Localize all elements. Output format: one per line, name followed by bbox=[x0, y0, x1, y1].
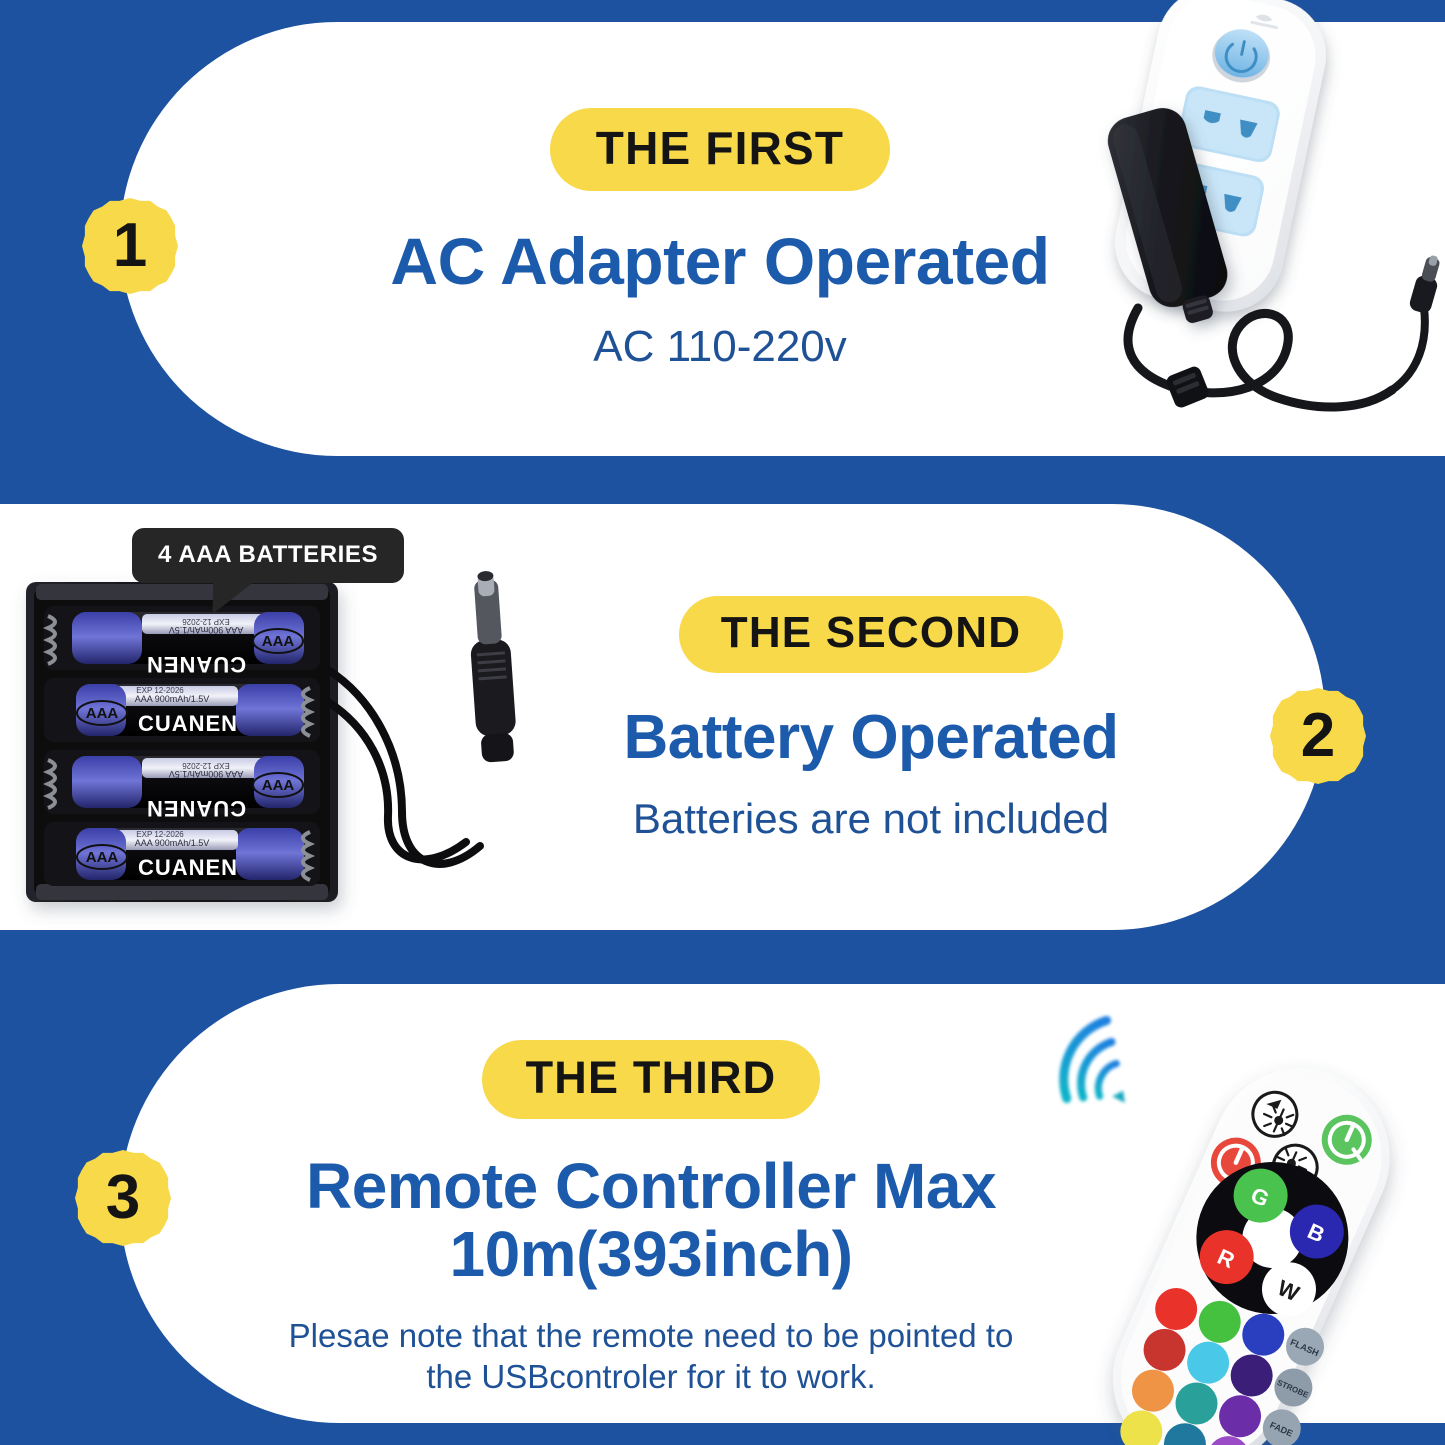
panel-2-text-block: THE SECOND Battery Operated Batteries ar… bbox=[476, 596, 1266, 845]
svg-text:CUANEN: CUANEN bbox=[138, 711, 238, 736]
svg-text:EXP 12-2026: EXP 12-2026 bbox=[136, 686, 184, 695]
panel-1-eyebrow: THE FIRST bbox=[550, 108, 890, 191]
panel-3-eyebrow: THE THIRD bbox=[482, 1040, 821, 1119]
svg-text:CUANEN: CUANEN bbox=[146, 796, 246, 821]
dc-output-cable bbox=[1392, 308, 1425, 390]
cable-tie bbox=[1165, 365, 1211, 410]
rgb-ir-remote-image: G B R W bbox=[1040, 1000, 1445, 1445]
remote-body: G B R W bbox=[1083, 1040, 1445, 1445]
panel-2-sub: Batteries are not included bbox=[476, 793, 1266, 846]
step-badge-2: 2 bbox=[1270, 688, 1366, 784]
svg-text:AAA: AAA bbox=[262, 633, 295, 650]
dc-barrel-plug bbox=[465, 570, 518, 763]
svg-text:EXP 12-2026: EXP 12-2026 bbox=[182, 617, 230, 626]
panel-3-sub: Plesae note that the remote need to be p… bbox=[176, 1315, 1126, 1398]
ac-adapter-power-strip-image bbox=[1020, 0, 1445, 470]
dc-barrel-plug bbox=[1408, 253, 1445, 315]
adapter-cable bbox=[1128, 308, 1392, 407]
panel-3-sub-line2: the USBcontroler for it to work. bbox=[426, 1358, 875, 1395]
panel-3-headline-line2: 10m(393inch) bbox=[449, 1218, 852, 1290]
panel-3-text-block: THE THIRD Remote Controller Max 10m(393i… bbox=[176, 1040, 1126, 1397]
step-badge-3: 3 bbox=[75, 1150, 171, 1246]
battery-cell: AAA CUANEN AAA 900mAh/1.5V EXP 12-2026 bbox=[44, 606, 320, 677]
panel-first: THE FIRST AC Adapter Operated AC 110-220… bbox=[0, 0, 1445, 478]
battery-callout: 4 AAA BATTERIES bbox=[132, 528, 404, 583]
battery-cell: AAA CUANEN AAA 900mAh/1.5V EXP 12-2026 bbox=[44, 822, 320, 886]
battery-holder-leads bbox=[328, 670, 480, 864]
svg-text:CUANEN: CUANEN bbox=[146, 652, 246, 677]
svg-text:CUANEN: CUANEN bbox=[138, 855, 238, 880]
battery-cell: AAA CUANEN AAA 900mAh/1.5V EXP 12-2026 bbox=[44, 750, 320, 821]
svg-text:AAA 900mAh/1.5V: AAA 900mAh/1.5V bbox=[135, 694, 210, 704]
svg-text:AAA: AAA bbox=[86, 705, 119, 722]
wifi-signal-arcs-icon bbox=[1048, 1020, 1133, 1119]
svg-text:AAA 900mAh/1.5V: AAA 900mAh/1.5V bbox=[135, 838, 210, 848]
panel-2-headline: Battery Operated bbox=[476, 705, 1266, 771]
step-badge-1: 1 bbox=[82, 198, 178, 294]
panel-3-headline: Remote Controller Max 10m(393inch) bbox=[176, 1153, 1126, 1289]
panel-3-headline-line1: Remote Controller Max bbox=[306, 1150, 996, 1222]
svg-text:AAA: AAA bbox=[262, 777, 295, 794]
panel-3-sub-line1: Plesae note that the remote need to be p… bbox=[289, 1317, 1014, 1354]
svg-text:AAA: AAA bbox=[86, 849, 119, 866]
panel-2-eyebrow: THE SECOND bbox=[679, 596, 1063, 673]
battery-cell: AAA CUANEN AAA 900mAh/1.5V EXP 12-2026 bbox=[44, 678, 320, 742]
svg-text:EXP 12-2026: EXP 12-2026 bbox=[136, 830, 184, 839]
svg-text:EXP 12-2026: EXP 12-2026 bbox=[182, 761, 230, 770]
infographic-root: THE FIRST AC Adapter Operated AC 110-220… bbox=[0, 0, 1445, 1445]
